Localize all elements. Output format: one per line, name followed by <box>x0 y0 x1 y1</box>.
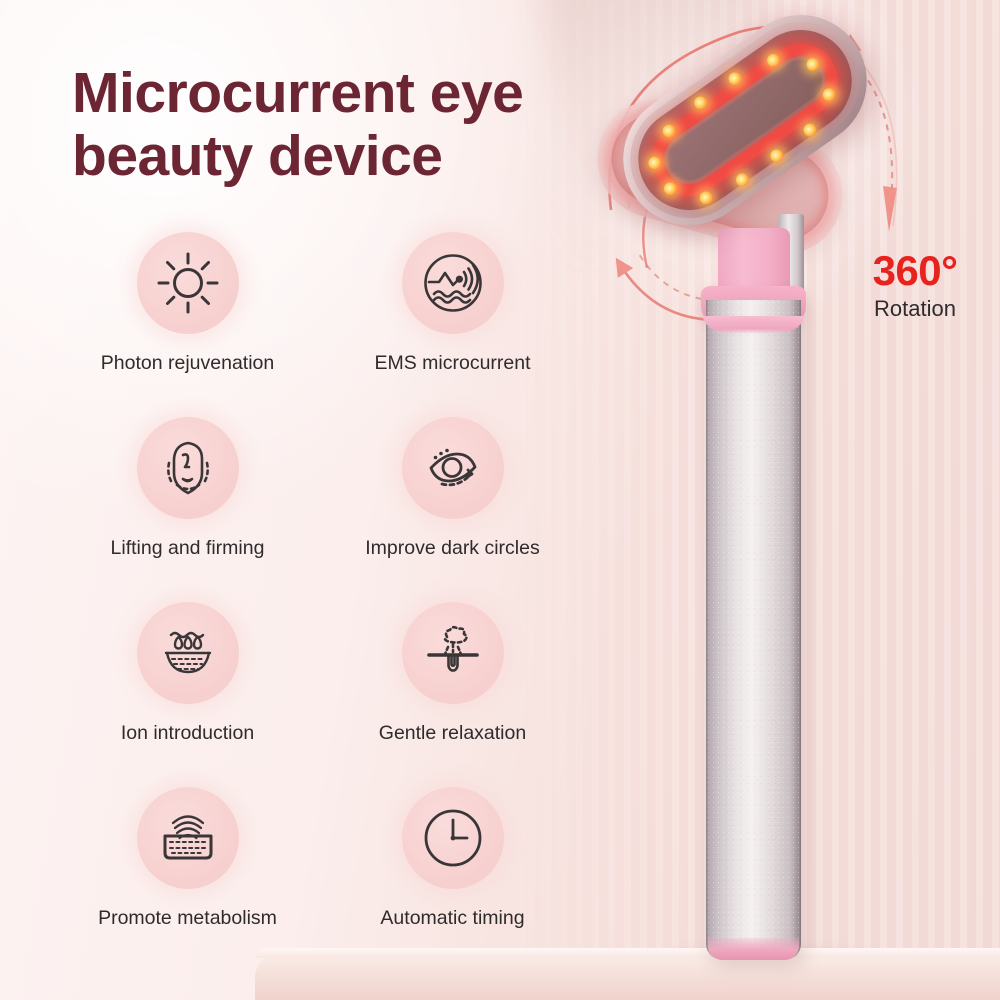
feature-label: EMS microcurrent <box>374 352 530 375</box>
ems-wave-icon <box>422 252 484 314</box>
rotation-degrees: 360° <box>840 250 990 292</box>
sun-icon <box>157 252 219 314</box>
page-title: Microcurrent eye beauty device <box>72 62 632 187</box>
feature-item-lifting-and-firming: Lifting and firming <box>60 417 315 602</box>
feature-item-promote-metabolism: Promote metabolism <box>60 787 315 972</box>
rotation-callout: 360° Rotation <box>840 250 990 320</box>
rotation-label: Rotation <box>840 298 990 320</box>
feature-label: Photon rejuvenation <box>101 352 274 375</box>
feature-label: Automatic timing <box>380 907 524 930</box>
collar-lower-lip <box>703 316 804 334</box>
feature-label: Promote metabolism <box>98 907 277 930</box>
feature-item-ems-microcurrent: EMS microcurrent <box>325 232 580 417</box>
handle-base-cap <box>708 938 799 960</box>
feature-item-gentle-relaxation: Gentle relaxation <box>325 602 580 787</box>
pore-steam-icon <box>422 622 484 684</box>
feature-icon-disc <box>402 787 504 889</box>
feature-icon-disc <box>137 232 239 334</box>
feature-item-ion-introduction: Ion introduction <box>60 602 315 787</box>
feature-item-improve-dark-circles: Improve dark circles <box>325 417 580 602</box>
clock-icon <box>422 807 484 869</box>
feature-label: Gentle relaxation <box>379 722 526 745</box>
feature-label: Lifting and firming <box>111 537 265 560</box>
device-handle <box>706 300 801 960</box>
feature-item-photon-rejuvenation: Photon rejuvenation <box>60 232 315 417</box>
eye-icon <box>422 437 484 499</box>
feature-item-automatic-timing: Automatic timing <box>325 787 580 972</box>
feature-label: Ion introduction <box>121 722 254 745</box>
feature-icon-disc <box>402 232 504 334</box>
feature-grid: Photon rejuvenation <box>60 232 580 972</box>
feature-icon-disc <box>137 417 239 519</box>
feature-icon-disc <box>402 417 504 519</box>
face-lifting-icon <box>157 437 219 499</box>
handle-texture <box>706 300 801 960</box>
water-droplet-icon <box>157 622 219 684</box>
product-device-illustration <box>575 0 1000 1000</box>
skin-layer-wave-icon <box>157 807 219 869</box>
feature-icon-disc <box>402 602 504 704</box>
feature-icon-disc <box>137 787 239 889</box>
feature-icon-disc <box>137 602 239 704</box>
product-marketing-image: Microcurrent eye beauty device <box>0 0 1000 1000</box>
feature-label: Improve dark circles <box>365 537 539 560</box>
